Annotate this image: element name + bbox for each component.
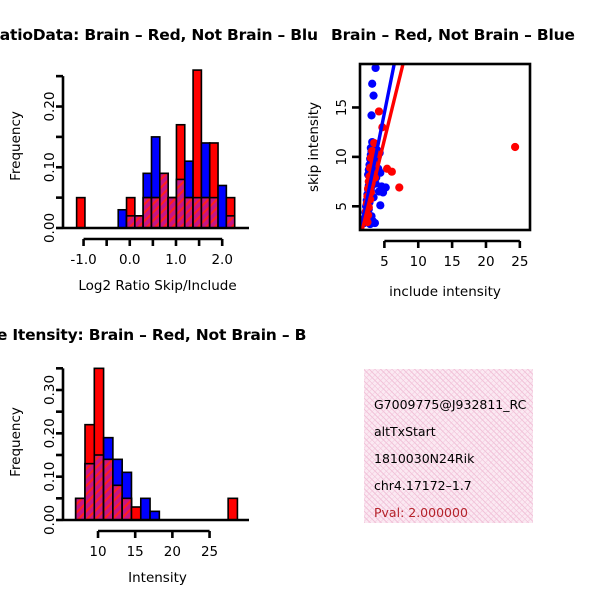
histogram-bars: [76, 368, 238, 520]
histogram-bar-red: [77, 198, 85, 228]
x-axis: 10152025: [89, 531, 218, 560]
x-axis-title: Intensity: [128, 570, 187, 586]
x-axis-title: Log2 Ratio Skip/Include: [78, 278, 236, 294]
x-axis-tick-label: 15: [444, 254, 461, 270]
x-axis-title: include intensity: [389, 284, 501, 300]
scatter-svg: 51015skip intensity510152025include inte…: [300, 50, 600, 310]
histogram-bar-overlap: [193, 198, 201, 228]
histogram-bar-overlap: [160, 173, 168, 228]
x-axis: 510152025: [380, 241, 528, 270]
scatter-point: [379, 188, 387, 196]
scatter-panel: 51015skip intensity510152025include inte…: [300, 50, 600, 310]
y-axis-tick-label: 0.20: [42, 91, 58, 121]
intensity-histogram-svg: 0.000.100.200.30Frequency10152025Intensi…: [0, 350, 300, 600]
ratio-hist-title: RatioData: Brain – Red, Not Brain – Blu: [0, 26, 318, 44]
histogram-bar-blue: [118, 210, 126, 228]
histogram-bars: [77, 70, 235, 228]
annotation-pvalue: Pval: 2.000000: [374, 499, 533, 526]
y-axis-tick-label: 0.20: [42, 418, 58, 448]
histogram-bar-overlap: [143, 198, 151, 228]
plot-frame: [360, 64, 530, 230]
histogram-bar-overlap: [210, 198, 218, 228]
histogram-bar-overlap: [85, 464, 94, 520]
y-axis-tick-label: 0.10: [42, 152, 58, 182]
scatter-series: [361, 107, 519, 226]
histogram-bar-overlap: [135, 216, 143, 228]
x-axis: -1.00.01.02.0: [70, 239, 233, 268]
x-axis-tick-label: 0.0: [119, 252, 140, 268]
y-axis: 0.000.100.20: [42, 76, 63, 243]
histogram-bar-overlap: [201, 198, 209, 228]
ratio-histogram-panel: 0.000.100.20Frequency-1.00.01.02.0Log2 R…: [0, 50, 300, 310]
annotation-event-type: altTxStart: [374, 418, 533, 445]
x-axis-tick-label: 5: [380, 254, 389, 270]
y-axis-tick-label: 15: [334, 99, 350, 116]
scatter-body: [360, 64, 519, 230]
y-axis-tick-label: 0.10: [42, 462, 58, 492]
y-axis-tick-label: 0.00: [42, 505, 58, 535]
histogram-bar-overlap: [168, 198, 176, 228]
histogram-bar-overlap: [151, 198, 159, 228]
scatter-point: [369, 92, 377, 100]
x-axis-tick-label: 10: [410, 254, 427, 270]
scatter-title: Brain – Red, Not Brain – Blue: [331, 26, 575, 44]
y-axis: 51015: [334, 99, 360, 211]
histogram-bar-overlap: [185, 198, 193, 228]
scatter-point: [376, 201, 384, 209]
y-axis-title: Frequency: [8, 407, 24, 477]
histogram-bar-overlap: [176, 179, 184, 228]
y-axis-tick-label: 10: [334, 148, 350, 165]
histogram-bar-overlap: [94, 455, 103, 520]
x-axis-tick-label: 25: [511, 254, 528, 270]
scatter-point: [375, 107, 383, 115]
x-axis-tick-label: 15: [127, 544, 144, 560]
y-axis-tick-label: 5: [334, 202, 350, 211]
annotation-probe-id: G7009775@J932811_RC: [374, 391, 533, 418]
scatter-point: [395, 183, 403, 191]
annotation-panel: G7009775@J932811_RC altTxStart 1810030N2…: [364, 369, 533, 523]
intensity-hist-title: ne Itensity: Brain – Red, Not Brain – B: [0, 326, 306, 344]
y-axis-title: skip intensity: [306, 102, 322, 192]
annotation-locus: chr4.17172–1.7: [374, 472, 533, 499]
histogram-bar-overlap: [226, 216, 234, 228]
x-axis-tick-label: -1.0: [70, 252, 96, 268]
scatter-point: [371, 219, 379, 227]
x-axis-tick-label: 2.0: [211, 252, 232, 268]
histogram-bar-overlap: [113, 485, 122, 520]
x-axis-tick-label: 20: [164, 544, 181, 560]
x-axis-tick-label: 1.0: [165, 252, 186, 268]
histogram-bar-blue: [218, 185, 226, 228]
histogram-bar-overlap: [122, 498, 131, 520]
intensity-histogram-panel: 0.000.100.200.30Frequency10152025Intensi…: [0, 350, 300, 600]
histogram-bar-blue: [141, 498, 150, 520]
histogram-bar-red: [131, 507, 140, 520]
histogram-bar-overlap: [127, 216, 135, 228]
x-axis-tick-label: 25: [201, 544, 218, 560]
x-axis-tick-label: 20: [477, 254, 494, 270]
histogram-bar-overlap: [76, 498, 85, 520]
y-axis-title: Frequency: [8, 111, 24, 181]
scatter-point: [388, 168, 396, 176]
y-axis-tick-label: 0.00: [42, 213, 58, 243]
annotation-lines: G7009775@J932811_RC altTxStart 1810030N2…: [364, 369, 533, 523]
annotation-gene-name: 1810030N24Rik: [374, 445, 533, 472]
x-axis-tick-label: 10: [89, 544, 106, 560]
y-axis-tick-label: 0.30: [42, 375, 58, 405]
y-axis: 0.000.100.200.30: [42, 368, 63, 535]
scatter-point: [511, 143, 519, 151]
histogram-bar-overlap: [104, 459, 113, 520]
ratio-histogram-svg: 0.000.100.20Frequency-1.00.01.02.0Log2 R…: [0, 50, 300, 310]
histogram-bar-red: [228, 498, 237, 520]
scatter-point: [367, 111, 375, 119]
scatter-point: [368, 80, 376, 88]
